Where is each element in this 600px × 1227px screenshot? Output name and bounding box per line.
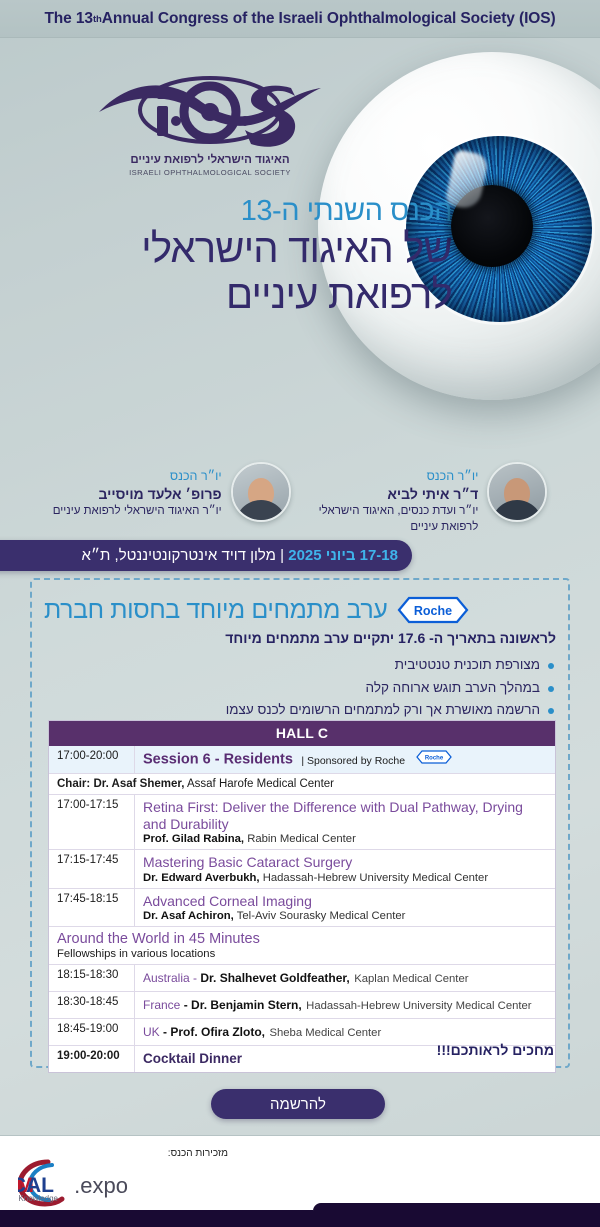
talk-institution: Hadassah-Hebrew University Medical Cente… [263,872,488,884]
hero-line-1: הכנס השנתי ה-13 [32,196,452,227]
medicalexpo-logo-mark: M EDICAL expo. Sharing Medical Knowledge [18,1156,208,1208]
register-button[interactable]: להרשמה [211,1089,385,1119]
residents-evening-panel: ערב מתמחים מיוחד בחסות חברת Roche לראשונ… [30,578,570,1068]
hall-header: HALL C [49,721,555,746]
page-title-prefix: The 13 [44,10,93,28]
row-time: 17:45-18:15 [49,889,135,927]
roche-logo: Roche [397,596,469,624]
panel-subtitle: לראשונה בתאריך ה- 17.6 יתקיים ערב מתמחים… [44,630,556,646]
chair-name: ד״ר איתי לביא [319,485,479,505]
talk-speaker: Dr. Edward Averbukh, [143,872,260,884]
talk-title: Retina First: Deliver the Difference wit… [143,799,547,832]
ios-logo-english: ISRAELI OPHTHALMOLOGICAL SOCIETY [95,168,325,177]
ios-logo: האיגוד הישראלי לרפואת עיניים ISRAELI OPH… [95,66,325,186]
talk-title: Advanced Corneal Imaging [143,893,547,910]
talk-speaker: - Prof. Ofira Zloto, [160,1025,265,1039]
talk-title: Mastering Basic Cataract Surgery [143,854,547,871]
page-title: The 13th Annual Congress of the Israeli … [0,0,600,38]
talk-speaker: Prof. Gilad Rabina, [143,833,244,845]
row-time: 18:45-19:00 [49,1019,135,1045]
hero-title: הכנס השנתי ה-13 של האיגוד הישראלי לרפואת… [32,196,452,319]
avatar [487,462,547,522]
panel-bullet-list: מצורפת תוכנית טנטטיבית במהלך הערב תוגש א… [44,654,556,722]
roche-logo-mark: Roche [415,750,453,764]
list-item: מצורפת תוכנית טנטטיבית [44,654,556,677]
chair-label: Chair: [57,778,90,790]
talk-institution: Tel-Aviv Sourasky Medical Center [237,910,406,922]
talk-institution: Kaplan Medical Center [354,973,468,985]
ios-logo-mark [95,66,325,158]
row-time: 17:00-17:15 [49,795,135,849]
chair-role: יו״ר הכנס [53,468,222,485]
section-subtitle: Fellowships in various locations [57,948,547,960]
talk-speaker: - Dr. Benjamin Stern, [180,998,301,1012]
roche-logo-mark: Roche [397,596,469,624]
svg-text:Roche: Roche [414,604,452,618]
chair-person: Dr. Asaf Shemer, [93,778,184,790]
talk-institution: Sheba Medical Center [269,1027,381,1039]
page-title-ordinal: th [93,14,102,25]
chair-affiliation-line-2: לרפואת עיניים [319,520,479,535]
chair-affiliation-line-1: יו״ר האיגוד הישראלי לרפואת עיניים [53,504,222,519]
talk-speaker: Dr. Shalhevet Goldfeather, [200,971,349,985]
table-row: 17:45-18:15 Advanced Corneal Imaging Dr.… [49,888,555,927]
hero-line-2: של האיגוד הישראלי [32,227,452,273]
medicalexpo-logo: M EDICAL expo. Sharing Medical Knowledge [18,1156,208,1208]
page-title-rest: Annual Congress of the Israeli Ophthalmo… [102,10,556,28]
table-row: 18:30-18:45 France - Dr. Benjamin Stern,… [49,991,555,1018]
footer-bar-right [313,1203,600,1227]
cocktail-title: Cocktail Dinner [143,1051,242,1066]
panel-closing-text: מחכים לראותכם!!! [437,1042,554,1058]
chair-card-lavi: יו״ר הכנס ד״ר איתי לביא יו״ר ועדת כנסים,… [319,462,548,558]
country-label: Australia - [143,971,200,985]
table-row: Around the World in 45 Minutes Fellowshi… [49,926,555,964]
pupil [451,185,533,267]
table-row: 17:00-20:00 Session 6 - Residents | Spon… [49,746,555,773]
svg-text:Sharing Medical Knowledge: Sharing Medical Knowledge [18,1194,59,1203]
row-time: 18:15-18:30 [49,965,135,991]
row-time: 17:00-20:00 [49,746,135,773]
row-time: 17:15-17:45 [49,850,135,888]
table-row: 17:00-17:15 Retina First: Deliver the Di… [49,794,555,849]
section-title: Around the World in 45 Minutes [57,931,547,948]
avatar [231,462,291,522]
flyer-page: The 13th Annual Congress of the Israeli … [0,0,600,1227]
ios-logo-hebrew: האיגוד הישראלי לרפואת עיניים [95,154,325,166]
country-label: UK [143,1025,160,1039]
footer-bar-left [0,1210,313,1227]
session-sponsor-text: | Sponsored by Roche [301,755,405,767]
table-row: Chair: Dr. Asaf Shemer, Assaf Harofe Med… [49,773,555,794]
svg-text:expo.: expo. [74,1173,128,1198]
svg-text:Roche: Roche [424,756,443,762]
table-row: 17:15-17:45 Mastering Basic Cataract Sur… [49,849,555,888]
talk-speaker: Dr. Asaf Achiron, [143,910,234,922]
list-item: הרשמה מאושרת אך ורק למתמחים הרשומים לכנס… [44,699,556,722]
chair-card-moisseiev: יו״ר הכנס פרופ׳ אלעד מויסייב יו״ר האיגוד… [53,462,291,558]
chair-institution: Assaf Harofe Medical Center [187,778,334,790]
panel-title-row: ערב מתמחים מיוחד בחסות חברת Roche [44,590,556,630]
chair-name: פרופ׳ אלעד מויסייב [53,485,222,505]
panel-title: ערב מתמחים מיוחד בחסות חברת [44,596,387,625]
schedule-table: HALL C 17:00-20:00 Session 6 - Residents… [48,720,556,1073]
chair-role: יו״ר הכנס [319,468,479,485]
country-label: France [143,998,180,1012]
talk-institution: Hadassah-Hebrew University Medical Cente… [306,1000,531,1012]
talk-institution: Rabin Medical Center [247,833,356,845]
chair-affiliation-line-1: יו״ר ועדת כנסים, האיגוד הישראלי [319,504,479,519]
table-row: 18:15-18:30 Australia - Dr. Shalhevet Go… [49,964,555,991]
session-title: Session 6 - Residents [143,752,293,768]
hero-line-3: לרפואת עיניים [32,273,452,319]
list-item: במהלך הערב תוגש ארוחה קלה [44,677,556,700]
congress-chairs: יו״ר הכנס ד״ר איתי לביא יו״ר ועדת כנסים,… [0,462,600,558]
row-time: 19:00-20:00 [49,1046,135,1072]
row-time: 18:30-18:45 [49,992,135,1018]
footer: מזכירות הכנס: M EDICAL expo. Sharing Med… [0,1135,600,1227]
roche-logo: Roche [415,750,453,769]
